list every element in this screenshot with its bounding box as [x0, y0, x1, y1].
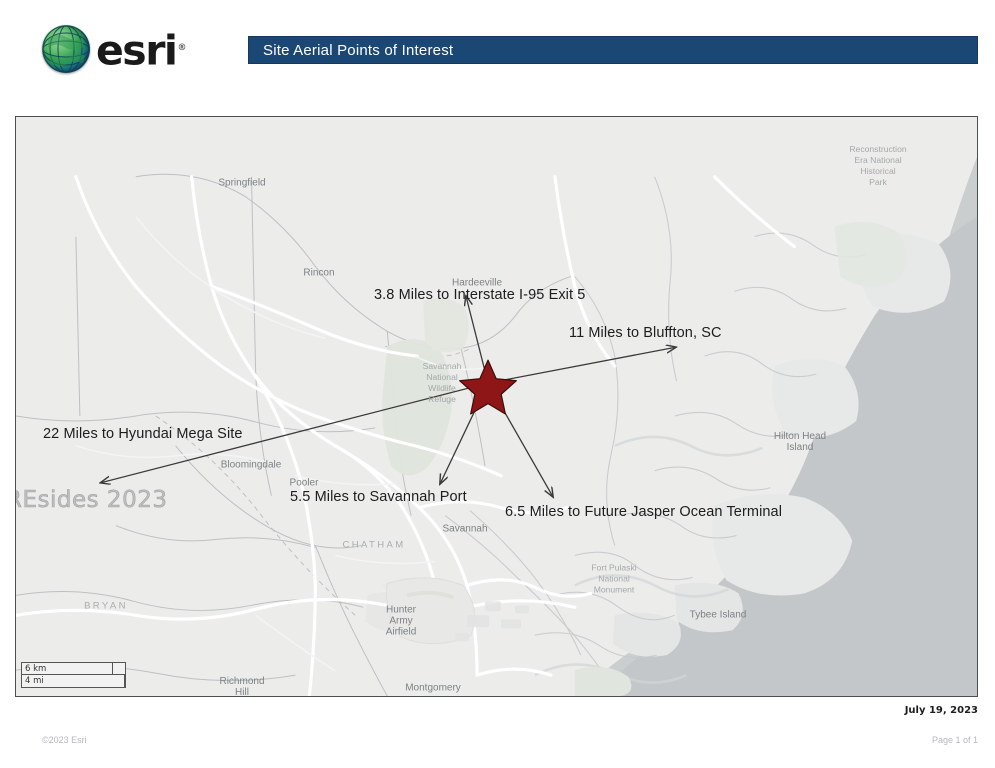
- footer-copyright: ©2023 Esri: [42, 735, 87, 745]
- scale-bar-mi-label: 4 mi: [25, 676, 44, 686]
- title-bar: Site Aerial Points of Interest: [248, 36, 978, 64]
- map-canvas[interactable]: [16, 117, 977, 696]
- poi-label: 5.5 Miles to Savannah Port: [290, 489, 467, 505]
- scale-bar: 6 km 4 mi: [21, 662, 126, 688]
- page-header: esri® Site Aerial Points of Interest: [0, 0, 995, 100]
- scale-bar-mi-tick: [124, 675, 125, 687]
- poi-label: 3.8 Miles to Interstate I-95 Exit 5: [374, 287, 585, 303]
- footer-page-number: Page 1 of 1: [932, 735, 978, 745]
- scale-bar-km-label: 6 km: [25, 664, 46, 674]
- map-frame[interactable]: SpringfieldRinconHardeevilleReconstructi…: [15, 116, 978, 697]
- page-title: Site Aerial Points of Interest: [249, 42, 453, 59]
- watermark: REsides 2023: [15, 487, 167, 513]
- poi-label: 11 Miles to Bluffton, SC: [569, 325, 722, 341]
- poi-label: 6.5 Miles to Future Jasper Ocean Termina…: [505, 504, 782, 520]
- esri-logo: esri®: [42, 24, 185, 74]
- esri-wordmark-text: esri: [96, 26, 176, 74]
- scale-bar-km-tick: [112, 663, 113, 675]
- scale-bar-mi-row: 4 mi: [22, 675, 125, 687]
- esri-wordmark: esri®: [96, 26, 185, 73]
- scale-bar-km-row: 6 km: [22, 663, 125, 675]
- footer-date: July 19, 2023: [905, 705, 978, 716]
- poi-label: 22 Miles to Hyundai Mega Site: [43, 426, 243, 442]
- registered-mark: ®: [177, 43, 185, 53]
- globe-icon: [42, 25, 90, 73]
